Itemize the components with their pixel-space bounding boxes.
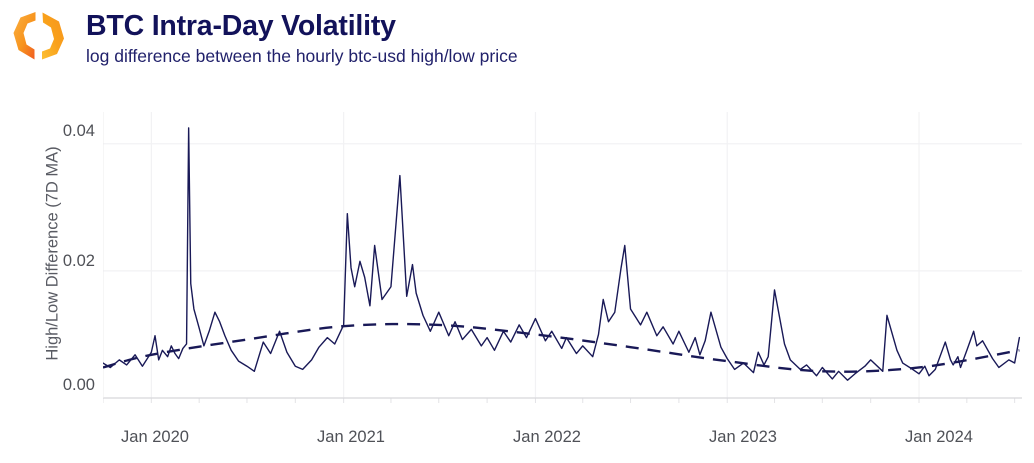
x-tick-3: Jan 2023 (683, 428, 803, 447)
x-tick-0: Jan 2020 (95, 428, 215, 447)
x-tick-4: Jan 2024 (879, 428, 999, 447)
minor-tick-marks (103, 398, 1015, 403)
y-tick-2: 0.00 (39, 376, 95, 395)
page-subtitle: log difference between the hourly btc-us… (86, 45, 518, 68)
orange-hexagon-logo (10, 9, 68, 63)
page-title: BTC Intra-Day Volatility (86, 9, 518, 43)
chart-plot-svg (103, 112, 1022, 406)
volatility-series-line (103, 128, 1019, 380)
logo-right-shape (42, 13, 64, 60)
y-tick-0: 0.04 (39, 122, 95, 141)
title-block: BTC Intra-Day Volatility log difference … (86, 9, 518, 68)
chart-container: High/Low Difference (7D MA) 0.04 0.02 0.… (0, 92, 1034, 463)
chart-header: BTC Intra-Day Volatility log difference … (0, 0, 1034, 92)
chart-page: BTC Intra-Day Volatility log difference … (0, 0, 1034, 463)
plot-area (103, 112, 1022, 406)
y-tick-1: 0.02 (39, 252, 95, 271)
x-tick-1: Jan 2021 (291, 428, 411, 447)
logo-left-shape (14, 12, 36, 60)
logo-svg (10, 9, 68, 63)
x-tick-2: Jan 2022 (487, 428, 607, 447)
y-axis-ticks: 0.04 0.02 0.00 (37, 112, 95, 406)
